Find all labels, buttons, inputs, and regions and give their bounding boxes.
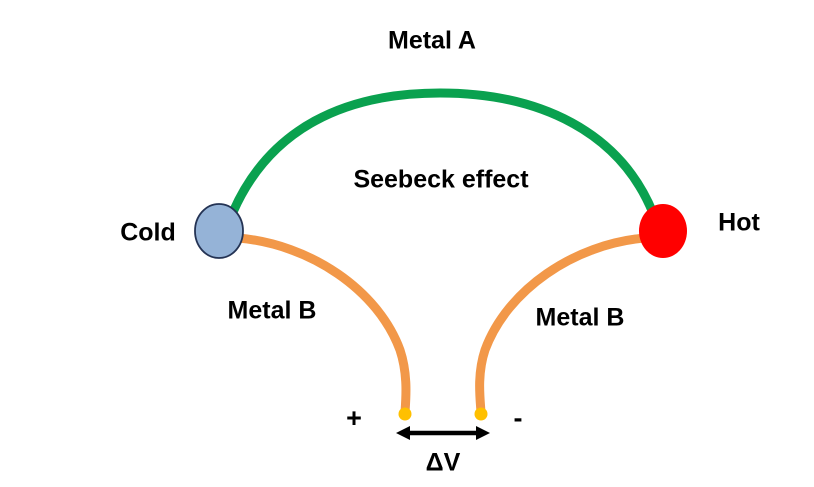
arrow-head-right — [476, 426, 490, 440]
voltage-arrow — [396, 426, 490, 440]
seebeck-effect-label: Seebeck effect — [353, 166, 529, 194]
metal-b-left-wire — [238, 238, 406, 412]
cold-label: Cold — [120, 219, 176, 247]
negative-terminal-dot — [475, 408, 488, 421]
negative-polarity-label: - — [514, 403, 523, 433]
metal-b-left-label: Metal B — [228, 297, 317, 325]
positive-polarity-label: + — [346, 403, 362, 433]
metal-a-label: Metal A — [388, 27, 476, 55]
hot-junction-circle — [639, 204, 687, 258]
delta-v-label: ΔV — [426, 449, 461, 477]
seebeck-effect-diagram: Metal A Seebeck effect Cold Hot Metal B … — [0, 0, 814, 487]
cold-junction-circle — [195, 204, 243, 258]
seebeck-diagram-canvas: Metal A Seebeck effect Cold Hot Metal B … — [0, 0, 814, 487]
positive-terminal-dot — [399, 408, 412, 421]
hot-label: Hot — [718, 209, 760, 237]
metal-b-right-label: Metal B — [536, 304, 625, 332]
arrow-head-left — [396, 426, 410, 440]
metal-a-wire — [233, 93, 653, 213]
